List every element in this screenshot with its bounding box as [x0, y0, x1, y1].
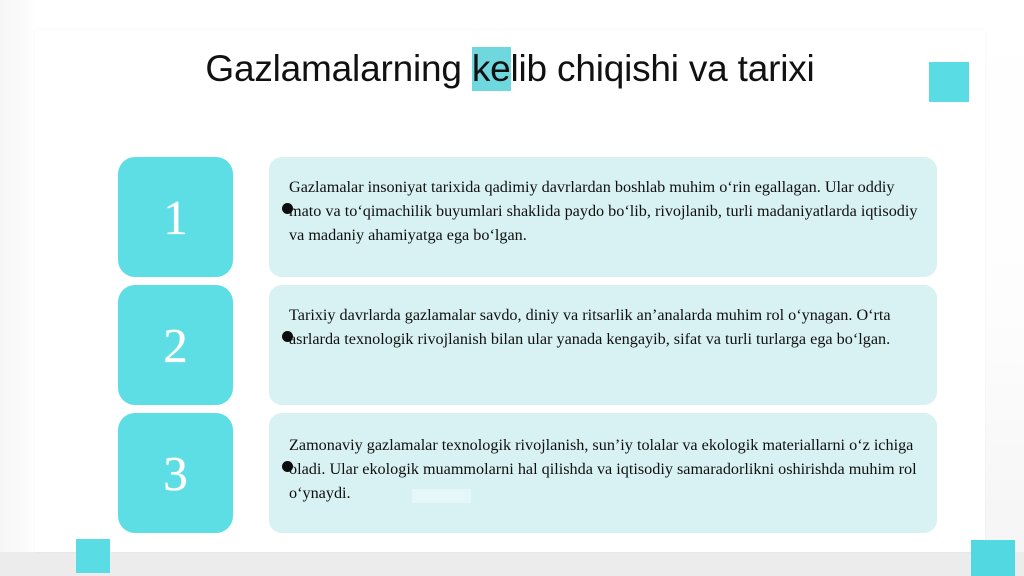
- page-bottom-band: [0, 552, 1024, 576]
- step-number-badge: 2: [118, 285, 233, 405]
- step-number-badge: 1: [118, 157, 233, 277]
- slide-stage: Gazlamalarning kelib chiqishi va tarixi …: [0, 0, 1024, 576]
- step-text-panel: Tarixiy davrlarda gazlamalar savdo, dini…: [269, 285, 937, 405]
- step-body-text: Gazlamalar insoniyat tarixida qadimiy da…: [289, 175, 919, 247]
- bullet-icon: [282, 203, 293, 214]
- bullet-icon: [282, 461, 293, 472]
- list-item[interactable]: 1 Gazlamalar insoniyat tarixida qadimiy …: [118, 157, 902, 277]
- step-number-badge: 3: [118, 413, 233, 533]
- step-number-label: 2: [118, 285, 233, 405]
- decorative-square-top-right: [929, 62, 969, 102]
- page-left-band: [0, 0, 36, 576]
- title-text-before: Gazlamalarning: [205, 48, 471, 89]
- step-number-label: 1: [118, 157, 233, 277]
- bullet-icon: [282, 331, 293, 342]
- step-text-panel: Gazlamalar insoniyat tarixida qadimiy da…: [269, 157, 937, 277]
- text-highlight-artifact: [412, 489, 471, 503]
- step-text-panel: Zamonaviy gazlamalar texnologik rivojlan…: [269, 413, 937, 533]
- decorative-square-bottom-left: [76, 539, 110, 573]
- step-number-label: 3: [118, 413, 233, 533]
- step-body-text: Tarixiy davrlarda gazlamalar savdo, dini…: [289, 303, 919, 351]
- step-body-text: Zamonaviy gazlamalar texnologik rivojlan…: [289, 433, 919, 505]
- page-title: Gazlamalarning kelib chiqishi va tarixi: [35, 48, 985, 90]
- title-highlight: ke: [472, 47, 511, 91]
- list-item[interactable]: 3 Zamonaviy gazlamalar texnologik rivojl…: [118, 413, 902, 533]
- decorative-square-bottom-right: [971, 540, 1015, 576]
- slide-card: Gazlamalarning kelib chiqishi va tarixi …: [35, 30, 985, 552]
- list-item[interactable]: 2 Tarixiy davrlarda gazlamalar savdo, di…: [118, 285, 902, 405]
- title-text-after: lib chiqishi va tarixi: [511, 48, 815, 89]
